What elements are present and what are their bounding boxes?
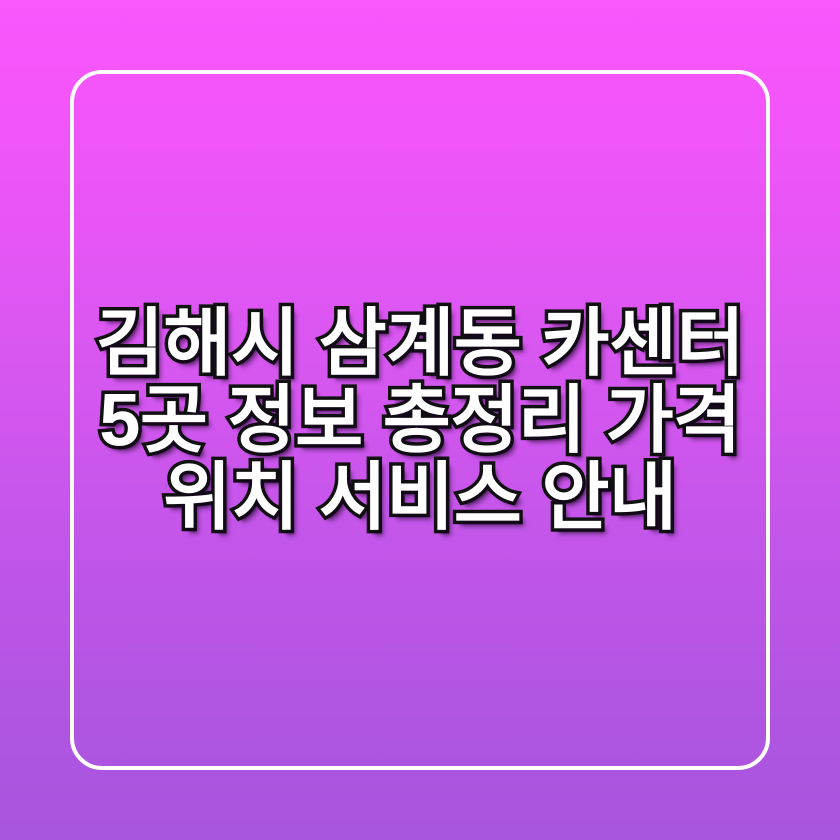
- headline-line-3: 위치 서비스 안내: [78, 459, 762, 536]
- headline-line-1: 김해시 삼계동 카센터: [78, 305, 762, 382]
- thumbnail-canvas: 김해시 삼계동 카센터 5곳 정보 총정리 가격 위치 서비스 안내: [0, 0, 840, 840]
- headline-line-2: 5곳 정보 총정리 가격: [78, 382, 762, 459]
- headline-text-block: 김해시 삼계동 카센터 5곳 정보 총정리 가격 위치 서비스 안내: [0, 305, 840, 536]
